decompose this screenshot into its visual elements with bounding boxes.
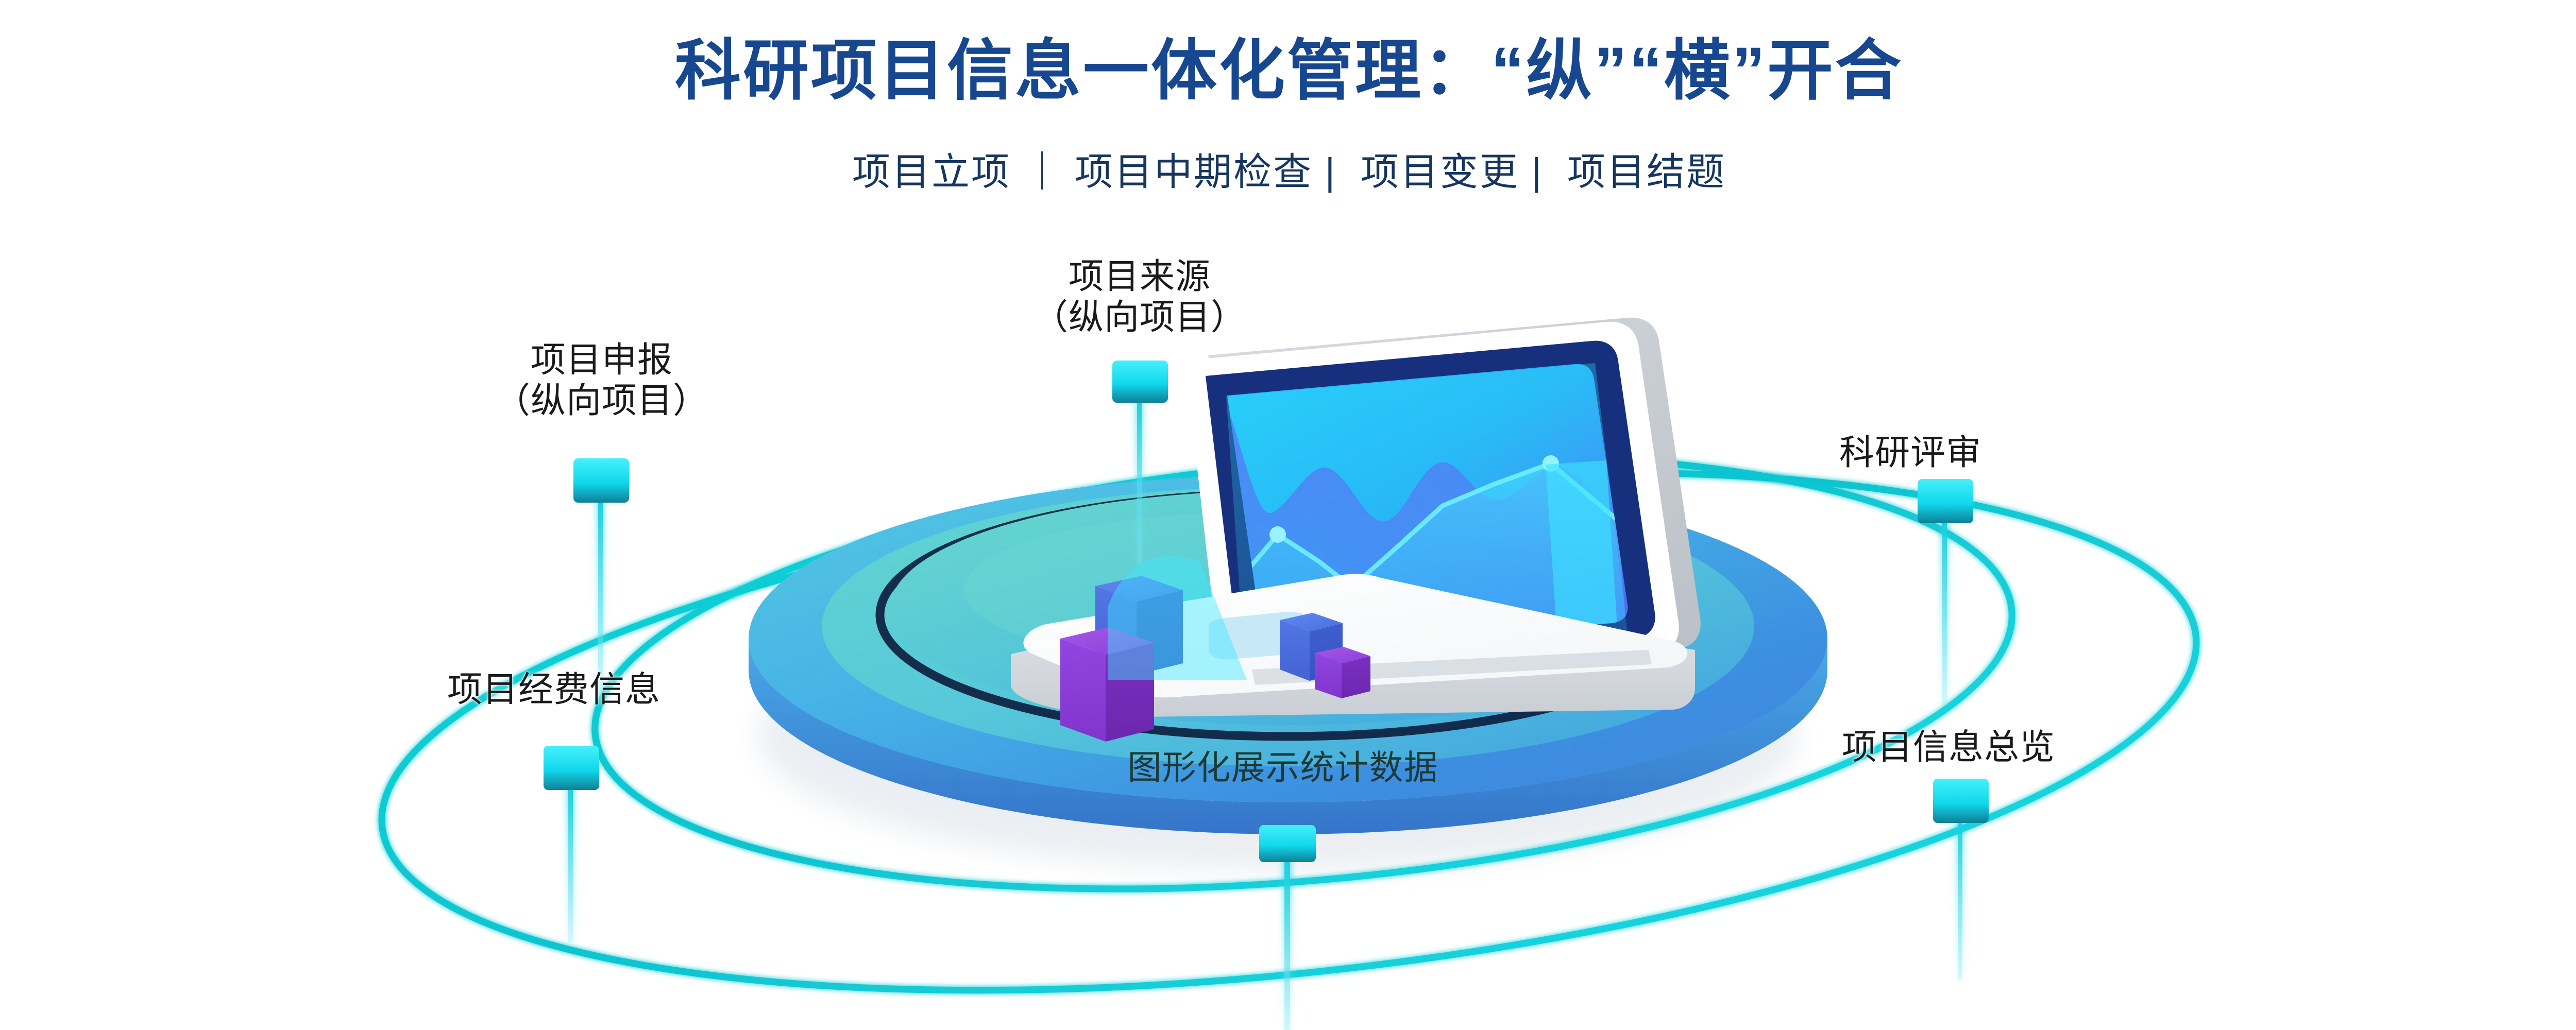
scene-graphic (0, 0, 2576, 1030)
marker-project-funding[interactable] (544, 746, 599, 942)
marker-project-application[interactable] (573, 458, 629, 695)
callout-label-project-funding: 项目经费信息 (447, 669, 660, 710)
cube-purple-small (1315, 647, 1370, 698)
platform-caption: 图形化展示统计数据 (1128, 748, 1438, 787)
marker-project-overview[interactable] (1933, 779, 1989, 980)
marker-research-review[interactable] (1918, 479, 1973, 706)
marker-platform-center[interactable] (1259, 825, 1316, 1030)
callout-label-project-overview: 项目信息总览 (1842, 727, 2055, 768)
callout-label-project-source: 项目来源 （纵向项目） (1033, 256, 1246, 338)
callout-label-project-application: 项目申报 （纵向项目） (495, 340, 708, 421)
illustration-canvas: 科研项目信息一体化管理：“纵”“横”开合 项目立项 ｜ 项目中期检查 | 项目变… (0, 0, 2576, 1030)
callout-label-research-review: 科研评审 (1839, 433, 1981, 473)
